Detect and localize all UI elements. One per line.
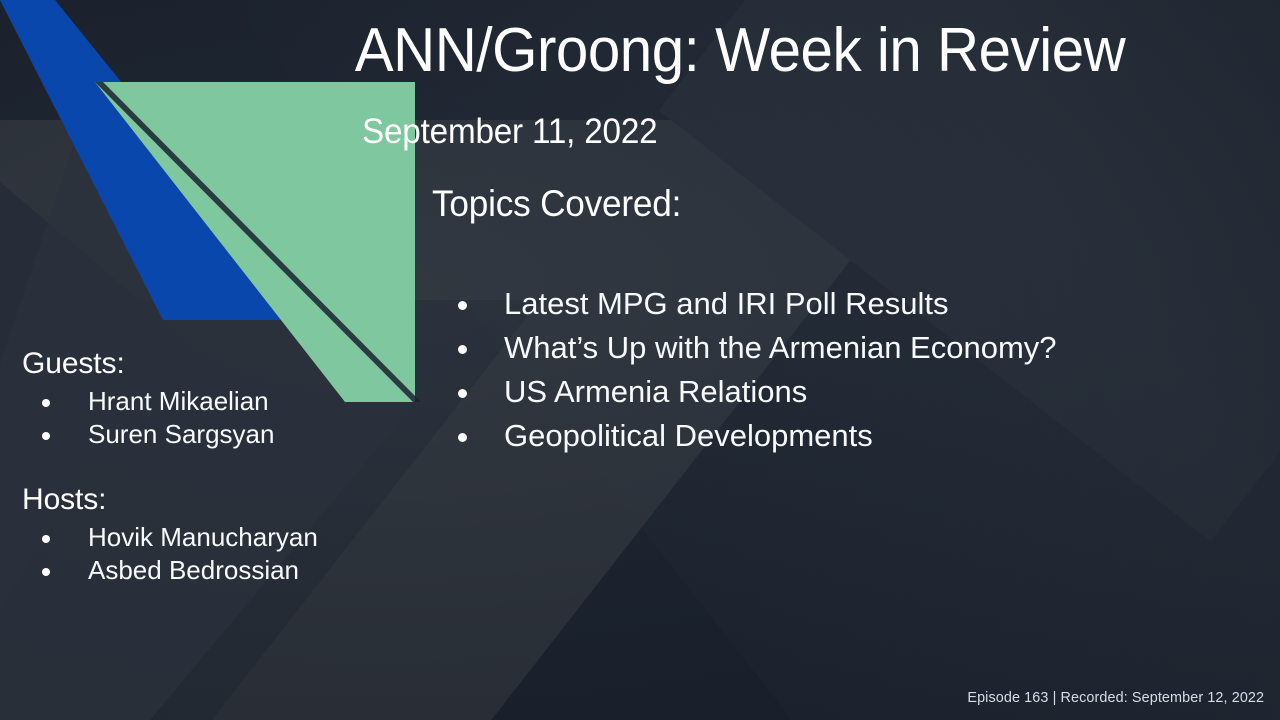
people-block: Guests: Hrant Mikaelian Suren Sargsyan H… (22, 345, 422, 587)
host-item: Asbed Bedrossian (22, 554, 422, 587)
hosts-group: Hosts: Hovik Manucharyan Asbed Bedrossia… (22, 481, 422, 587)
topic-label: US Armenia Relations (504, 374, 807, 409)
guest-name: Hrant Mikaelian (88, 386, 269, 416)
hosts-list: Hovik Manucharyan Asbed Bedrossian (22, 521, 422, 587)
guest-item: Hrant Mikaelian (22, 385, 422, 418)
bullet-icon (42, 568, 50, 576)
topic-item: Latest MPG and IRI Poll Results (452, 282, 1212, 326)
bullet-icon (42, 399, 50, 407)
topics-list: Latest MPG and IRI Poll Results What’s U… (452, 282, 1212, 458)
slide-title: ANN/Groong: Week in Review (270, 16, 1210, 85)
bullet-icon (458, 389, 467, 398)
topics-covered-heading: Topics Covered: (432, 183, 681, 225)
topic-item: What’s Up with the Armenian Economy? (452, 326, 1212, 370)
topic-item: US Armenia Relations (452, 370, 1212, 414)
bullet-icon (42, 432, 50, 440)
topic-label: Latest MPG and IRI Poll Results (504, 286, 949, 321)
host-name: Asbed Bedrossian (88, 555, 299, 585)
bullet-icon (458, 433, 467, 442)
bullet-icon (42, 535, 50, 543)
bullet-icon (458, 301, 467, 310)
episode-footer: Episode 163 | Recorded: September 12, 20… (967, 689, 1264, 706)
bullet-icon (458, 345, 467, 354)
topic-item: Geopolitical Developments (452, 414, 1212, 458)
presentation-slide: ANN/Groong: Week in Review September 11,… (0, 0, 1280, 720)
guest-item: Suren Sargsyan (22, 418, 422, 451)
slide-date: September 11, 2022 (362, 112, 657, 152)
guest-name: Suren Sargsyan (88, 419, 274, 449)
hosts-label: Hosts: (22, 481, 422, 519)
topic-label: What’s Up with the Armenian Economy? (504, 330, 1057, 365)
guests-list: Hrant Mikaelian Suren Sargsyan (22, 385, 422, 451)
guests-label: Guests: (22, 345, 422, 383)
host-item: Hovik Manucharyan (22, 521, 422, 554)
host-name: Hovik Manucharyan (88, 522, 318, 552)
guests-group: Guests: Hrant Mikaelian Suren Sargsyan (22, 345, 422, 451)
topic-label: Geopolitical Developments (504, 418, 873, 453)
